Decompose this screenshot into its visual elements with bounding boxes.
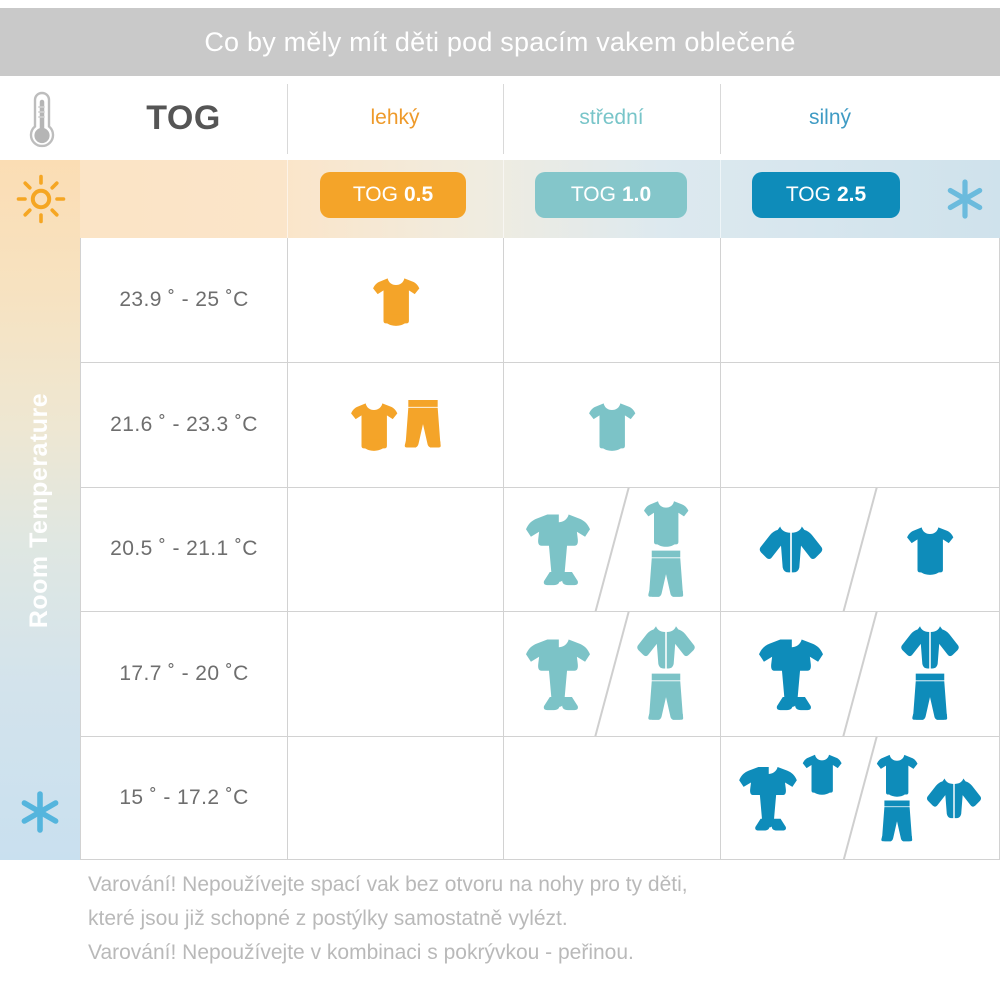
long-sleeve-bodysuit-icon xyxy=(923,776,985,820)
warning-block: Varování! Nepoužívejte spací vak bez otv… xyxy=(88,868,968,970)
clothing-cell-r0c0[interactable] xyxy=(287,238,503,362)
footed-sleepsuit-icon xyxy=(526,511,590,587)
snowflake-icon xyxy=(18,790,62,834)
short-sleeve-bodysuit-icon xyxy=(349,399,399,451)
option-b xyxy=(860,612,999,735)
temperature-cell: 17.7 ˚ - 20 ˚C xyxy=(80,611,287,735)
tog-pill-label: TOG xyxy=(786,183,831,207)
short-sleeve-bodysuit-icon xyxy=(905,523,955,575)
warning-line-1: Varování! Nepoužívejte spací vak bez otv… xyxy=(88,868,968,902)
column-header-row: TOG lehký střední silný xyxy=(0,76,1000,160)
clothing-cell-r3c2[interactable] xyxy=(720,611,1000,735)
clothing-cell-r2c1[interactable] xyxy=(503,487,720,611)
room-temperature-sidebar: Room Temperature xyxy=(0,160,80,860)
clothing-group xyxy=(633,624,699,724)
warning-line-2: které jsou již schopné z postýlky samost… xyxy=(88,902,968,936)
clothing-cell-r0c1[interactable] xyxy=(503,238,720,362)
option-b xyxy=(612,612,720,735)
footed-pants-icon xyxy=(647,672,685,724)
option-a xyxy=(504,488,612,611)
footed-pants-icon xyxy=(880,799,914,845)
footed-pants-icon xyxy=(911,672,949,724)
title-bar: Co by měly mít děti pod spacím vakem obl… xyxy=(0,8,1000,76)
option-b xyxy=(860,488,999,611)
option-a xyxy=(721,737,860,859)
temperature-cell: 23.9 ˚ - 25 ˚C xyxy=(80,238,287,362)
clothing-cell-r4c0[interactable] xyxy=(287,736,503,860)
short-sleeve-bodysuit-icon xyxy=(587,399,637,451)
tog-pill-value: 2.5 xyxy=(837,183,866,207)
option-pair xyxy=(721,612,999,735)
temperature-cell: 20.5 ˚ - 21.1 ˚C xyxy=(80,487,287,611)
clothing-cell-r0c2[interactable] xyxy=(720,238,1000,362)
footed-sleepsuit-icon xyxy=(526,636,590,712)
option-a xyxy=(721,612,860,735)
option-pair xyxy=(504,488,720,611)
short-sleeve-bodysuit-icon xyxy=(642,497,690,547)
table-row: 20.5 ˚ - 21.1 ˚C xyxy=(80,487,1000,611)
tog-pill-label: TOG xyxy=(571,183,616,207)
clothing-cell-r1c1[interactable] xyxy=(503,362,720,486)
footed-sleepsuit-icon xyxy=(739,764,797,832)
clothing-cell-r2c0[interactable] xyxy=(287,487,503,611)
clothing-cell-r3c0[interactable] xyxy=(287,611,503,735)
clothing-cell-r3c1[interactable] xyxy=(503,611,720,735)
option-a xyxy=(721,488,860,611)
option-b xyxy=(612,488,720,611)
tog-pill-value: 1.0 xyxy=(622,183,651,207)
tog-pill-0-5[interactable]: TOG 0.5 xyxy=(320,172,466,218)
short-sleeve-bodysuit-icon xyxy=(371,274,421,326)
top-strip xyxy=(0,0,1000,8)
infographic-root: Co by měly mít děti pod spacím vakem obl… xyxy=(0,0,1000,1000)
table-row: 23.9 ˚ - 25 ˚C xyxy=(80,238,1000,362)
option-pair xyxy=(721,488,999,611)
tog-pill-1-0[interactable]: TOG 1.0 xyxy=(535,172,687,218)
tog-header-cell: TOG xyxy=(80,76,287,160)
column-header-label: silný xyxy=(809,106,851,130)
clothing-group xyxy=(875,751,919,845)
option-b xyxy=(860,737,999,859)
clothing-group xyxy=(371,274,421,326)
table-row: 17.7 ˚ - 20 ˚C xyxy=(80,611,1000,735)
column-header-label: lehký xyxy=(370,106,419,130)
clothing-group xyxy=(587,399,637,451)
table-row: 21.6 ˚ - 23.3 ˚C xyxy=(80,362,1000,486)
sidebar-vertical-label: Room Temperature xyxy=(26,392,55,627)
footed-sleepsuit-icon xyxy=(759,636,823,712)
option-a xyxy=(504,612,612,735)
clothing-cell-r1c2[interactable] xyxy=(720,362,1000,486)
snowflake-icon xyxy=(944,178,986,220)
column-header-medium: střední xyxy=(503,76,720,160)
clothing-group xyxy=(642,497,690,601)
warning-line-3: Varování! Nepoužívejte v kombinaci s pok… xyxy=(88,936,968,970)
clothing-cell-r1c0[interactable] xyxy=(287,362,503,486)
table-row: 15 ˚ - 17.2 ˚C xyxy=(80,736,1000,860)
thermometer-icon xyxy=(24,90,60,148)
temperature-cell: 21.6 ˚ - 23.3 ˚C xyxy=(80,362,287,486)
clothing-cell-r2c2[interactable] xyxy=(720,487,1000,611)
tog-band: TOG 0.5 TOG 1.0 TOG 2.5 xyxy=(0,160,1000,238)
clothing-group xyxy=(349,398,442,452)
clothing-group xyxy=(897,624,963,724)
tog-pill-label: TOG xyxy=(353,183,398,207)
short-sleeve-bodysuit-icon xyxy=(875,751,919,797)
long-sleeve-bodysuit-icon xyxy=(897,624,963,670)
tog-pill-value: 0.5 xyxy=(404,183,433,207)
short-sleeve-bodysuit-icon xyxy=(801,751,843,795)
footed-pants-icon xyxy=(404,398,442,452)
option-pair xyxy=(721,737,999,859)
column-header-label: střední xyxy=(579,106,643,130)
sidebar-vertical-label-wrap: Room Temperature xyxy=(0,160,80,860)
long-sleeve-bodysuit-icon xyxy=(633,624,699,670)
clothing-cell-r4c1[interactable] xyxy=(503,736,720,860)
tog-header-label: TOG xyxy=(146,99,221,138)
footed-pants-icon xyxy=(647,549,685,601)
clothing-cell-r4c2[interactable] xyxy=(720,736,1000,860)
long-sleeve-bodysuit-icon xyxy=(755,524,827,574)
column-header-light: lehký xyxy=(287,76,503,160)
option-pair xyxy=(504,612,720,735)
tog-pill-2-5[interactable]: TOG 2.5 xyxy=(752,172,900,218)
temperature-cell: 15 ˚ - 17.2 ˚C xyxy=(80,736,287,860)
page-title: Co by měly mít děti pod spacím vakem obl… xyxy=(204,27,795,58)
clothing-grid: 23.9 ˚ - 25 ˚C 21.6 ˚ - 23.3 ˚C xyxy=(80,238,1000,860)
column-header-strong: silný xyxy=(720,76,940,160)
